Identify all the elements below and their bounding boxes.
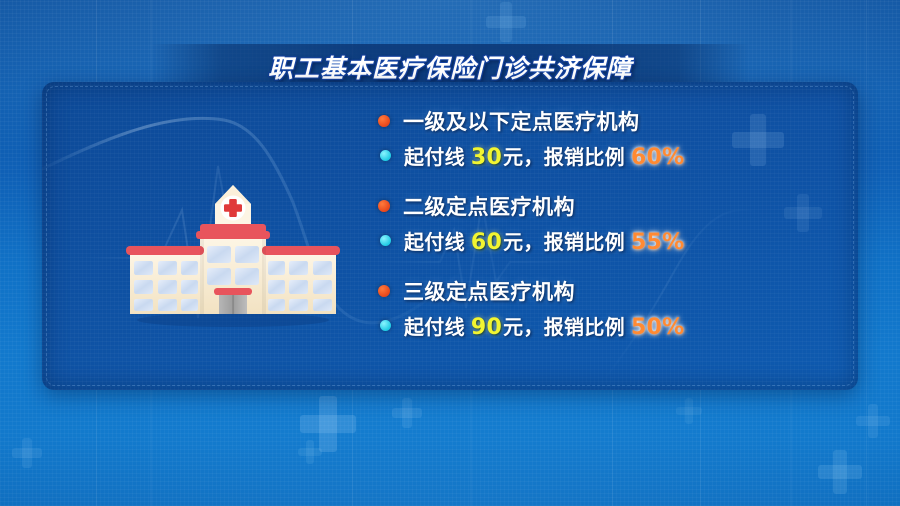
- benefit-level-label: 二级定点医疗机构: [403, 191, 575, 221]
- benefit-level-row: 一级及以下定点医疗机构: [378, 106, 818, 136]
- deductible-prefix: 起付线: [404, 230, 465, 254]
- benefit-detail-row: 起付线90元，报销比例50%: [378, 311, 818, 340]
- deductible-unit: 元，: [503, 145, 544, 169]
- cross-watermark-icon: [486, 2, 526, 42]
- benefit-detail-label: 起付线90元，报销比例50%: [404, 311, 686, 340]
- bullet-level-icon: [378, 285, 390, 297]
- deductible-amount: 90: [470, 315, 503, 340]
- benefit-detail-row: 起付线30元，报销比例60%: [378, 141, 818, 170]
- reimbursement-prefix: 报销比例: [544, 230, 625, 254]
- bullet-level-icon: [378, 115, 390, 127]
- bullet-level-icon: [378, 200, 390, 212]
- hospital-building-illustration: [118, 160, 348, 330]
- cross-watermark-icon: [300, 396, 356, 452]
- cross-watermark-icon: [298, 440, 322, 464]
- deductible-prefix: 起付线: [404, 315, 465, 339]
- cross-watermark-icon: [392, 398, 422, 428]
- bullet-detail-icon: [380, 320, 391, 331]
- benefit-detail-label: 起付线30元，报销比例60%: [404, 141, 686, 170]
- benefit-detail-row: 起付线60元，报销比例55%: [378, 226, 818, 255]
- broadcast-graphic-stage: 职工基本医疗保险门诊共济保障: [0, 0, 900, 506]
- bullet-detail-icon: [380, 235, 391, 246]
- benefit-group: 一级及以下定点医疗机构 起付线30元，报销比例60%: [378, 106, 818, 170]
- deductible-prefix: 起付线: [404, 145, 465, 169]
- cross-watermark-icon: [818, 450, 862, 494]
- bullet-detail-icon: [380, 150, 391, 161]
- reimbursement-percent: 60%: [630, 145, 686, 170]
- cross-watermark-icon: [676, 398, 702, 424]
- reimbursement-percent: 55%: [630, 230, 686, 255]
- deductible-unit: 元，: [503, 315, 544, 339]
- benefit-level-label: 一级及以下定点医疗机构: [403, 106, 640, 136]
- benefit-group: 二级定点医疗机构 起付线60元，报销比例55%: [378, 191, 818, 255]
- cross-watermark-icon: [856, 404, 890, 438]
- page-title: 职工基本医疗保险门诊共济保障: [0, 49, 900, 85]
- reimbursement-percent: 50%: [630, 315, 686, 340]
- benefit-list: 一级及以下定点医疗机构 起付线30元，报销比例60% 二级定点医疗机构 起付线6…: [378, 106, 818, 340]
- deductible-amount: 60: [470, 230, 503, 255]
- benefit-level-row: 二级定点医疗机构: [378, 191, 818, 221]
- benefit-detail-label: 起付线60元，报销比例55%: [404, 226, 686, 255]
- reimbursement-prefix: 报销比例: [544, 315, 625, 339]
- reimbursement-prefix: 报销比例: [544, 145, 625, 169]
- deductible-amount: 30: [470, 145, 503, 170]
- cross-watermark-icon: [12, 438, 42, 468]
- deductible-unit: 元，: [503, 230, 544, 254]
- benefit-group: 三级定点医疗机构 起付线90元，报销比例50%: [378, 276, 818, 340]
- benefit-level-label: 三级定点医疗机构: [403, 276, 575, 306]
- benefit-level-row: 三级定点医疗机构: [378, 276, 818, 306]
